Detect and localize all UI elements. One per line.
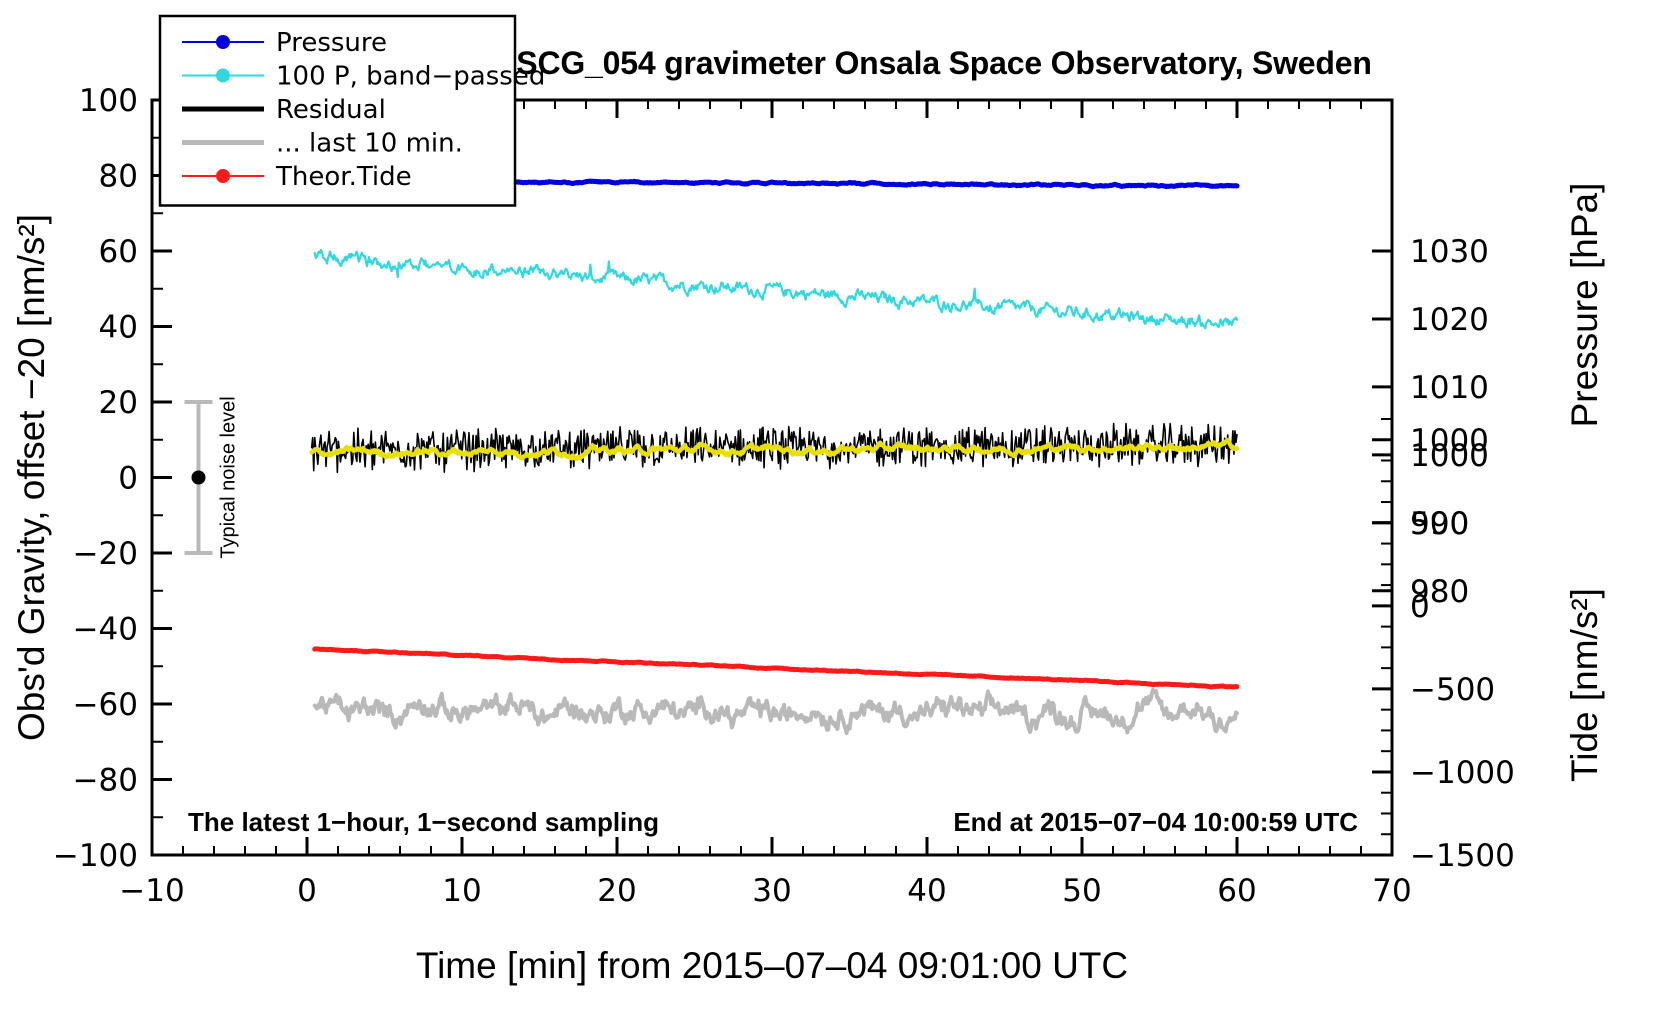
x-tick-label: 50 <box>1062 873 1101 909</box>
x-tick-label: 30 <box>752 873 791 909</box>
legend-item-label-2: Residual <box>276 95 386 125</box>
legend-item-label-1: 100 P, band−passed <box>276 62 545 92</box>
x-tick-label: 60 <box>1217 873 1256 909</box>
y-tick-label: 40 <box>99 310 138 346</box>
legend-item-label-0: Pressure <box>276 28 387 58</box>
y-tick-label: 80 <box>99 159 138 195</box>
y-tick-label: −40 <box>73 612 138 648</box>
chart-canvas: −10010203040506070−100−80−60−40−20020406… <box>0 0 1660 1020</box>
tide-axis-tick-label: 500 <box>1410 506 1469 542</box>
series-last10 <box>315 690 1237 733</box>
footer-left-note: The latest 1−hour, 1−second sampling <box>188 807 659 837</box>
tide-axis-tick-label: 1000 <box>1410 423 1489 459</box>
y-tick-label: 100 <box>79 83 138 119</box>
y-tick-label: 60 <box>99 234 138 270</box>
legend-item-label-3: ... last 10 min. <box>276 129 463 159</box>
pressure-axis-title: Pressure [hPa] <box>1564 183 1605 428</box>
y-tick-label: −80 <box>73 763 138 799</box>
legend-item-label-4: Theor.Tide <box>275 162 412 192</box>
tide-axis-tick-label: −1500 <box>1410 838 1515 874</box>
legend-marker-4 <box>216 169 230 183</box>
legend-marker-0 <box>216 35 230 49</box>
x-tick-label: 0 <box>297 873 317 909</box>
y-tick-label: −100 <box>53 838 138 874</box>
series-bandpassed <box>315 250 1237 328</box>
y-tick-label: −60 <box>73 687 138 723</box>
plot-frame <box>152 100 1392 855</box>
pressure-axis-tick-label: 1020 <box>1410 302 1489 338</box>
y-tick-label: 0 <box>118 461 138 497</box>
y-tick-label: −20 <box>73 536 138 572</box>
x-tick-label: 70 <box>1372 873 1411 909</box>
chart-title: SCG_054 gravimeter Onsala Space Observat… <box>516 45 1371 81</box>
pressure-axis-tick-label: 1010 <box>1410 370 1489 406</box>
noise-bar-point <box>192 471 206 485</box>
y-tick-label: 20 <box>99 385 138 421</box>
noise-bar-label: Typical noise level <box>218 396 240 558</box>
footer-right-note: End at 2015−07−04 10:00:59 UTC <box>953 807 1358 837</box>
x-axis-title: Time [min] from 2015–07–04 09:01:00 UTC <box>416 945 1128 986</box>
tide-axis-tick-label: 0 <box>1410 589 1430 625</box>
y-axis-title: Obs'd Gravity, offset −20 [nm/s²] <box>11 214 52 741</box>
gravimeter-timeseries-chart: −10010203040506070−100−80−60−40−20020406… <box>0 0 1660 1020</box>
x-tick-label: 10 <box>442 873 481 909</box>
tide-axis-title: Tide [nm/s²] <box>1564 588 1605 782</box>
legend-marker-1 <box>216 69 230 83</box>
tide-axis-tick-label: −1000 <box>1410 755 1515 791</box>
x-tick-label: 40 <box>907 873 946 909</box>
x-tick-label: 20 <box>597 873 636 909</box>
x-tick-label: −10 <box>119 873 184 909</box>
pressure-axis-tick-label: 1030 <box>1410 234 1489 270</box>
series-tide <box>315 649 1237 687</box>
tide-axis-tick-label: −500 <box>1410 672 1495 708</box>
